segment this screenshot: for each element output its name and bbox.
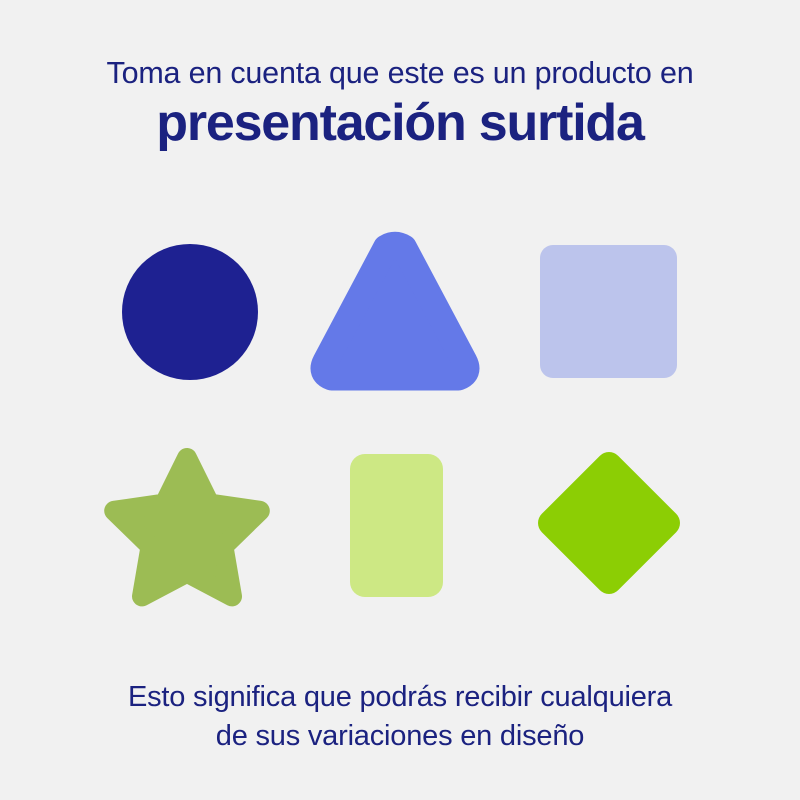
headline-line-1: Toma en cuenta que este es un producto e… (0, 58, 800, 89)
shape-rounded-rectangle (320, 435, 510, 625)
footer-line-1: Esto significa que podrás recibir cualqu… (0, 678, 800, 717)
shape-rounded-square (520, 225, 710, 415)
triangle-icon (300, 225, 490, 415)
rounded-rectangle-shape-path (350, 454, 443, 597)
star-icon (100, 435, 290, 625)
headline-block: Toma en cuenta que este es un producto e… (0, 58, 800, 149)
triangle-shape-path (324, 245, 467, 378)
shape-grid (0, 225, 800, 625)
diamond-icon (520, 435, 710, 625)
footer-line-2: de sus variaciones en diseño (0, 717, 800, 756)
rounded-rectangle-icon (320, 435, 510, 625)
shape-star (100, 435, 290, 625)
headline-line-2: presentación surtida (0, 97, 800, 149)
circle-icon (100, 225, 290, 415)
rounded-square-icon (520, 225, 710, 415)
shape-circle (100, 225, 290, 415)
circle-shape-path (122, 244, 258, 380)
promo-poster: Toma en cuenta que este es un producto e… (0, 0, 800, 800)
diamond-shape-path (533, 447, 686, 600)
star-shape-path (114, 458, 260, 596)
shape-diamond (520, 435, 710, 625)
shape-triangle (300, 225, 490, 415)
rounded-square-shape-path (540, 245, 677, 378)
footer-block: Esto significa que podrás recibir cualqu… (0, 678, 800, 756)
